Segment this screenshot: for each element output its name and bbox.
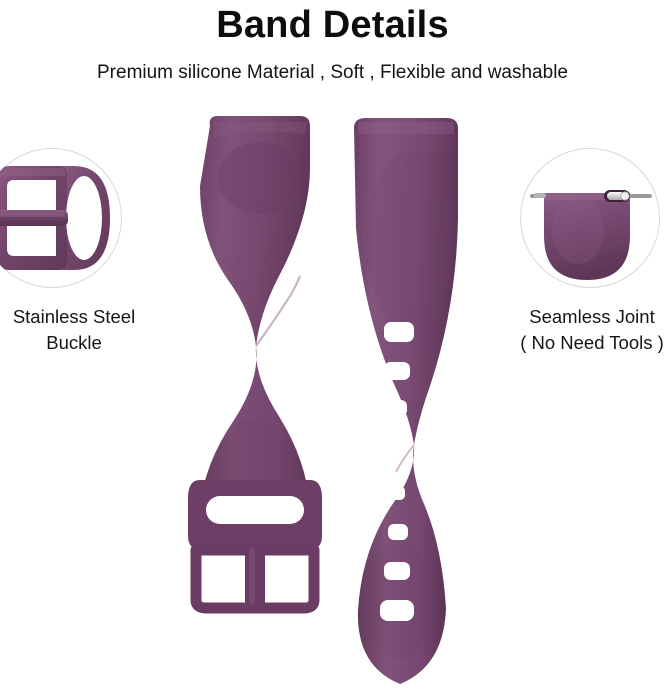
adjustment-hole xyxy=(384,322,414,342)
lug-graphic xyxy=(530,190,652,280)
lug-closeup-icon xyxy=(512,148,665,296)
adjustment-hole xyxy=(384,562,410,580)
adjustment-hole xyxy=(392,486,405,500)
quick-release-knob xyxy=(621,192,629,200)
callout-caption-right-line2: ( No Need Tools ) xyxy=(492,330,665,356)
callout-caption-left: Stainless Steel Buckle xyxy=(0,304,174,356)
strap-holes-half xyxy=(318,100,508,700)
strap-r-upper-shadow xyxy=(366,150,454,330)
buckle-graphic xyxy=(0,166,110,270)
callout-caption-right: Seamless Joint ( No Need Tools ) xyxy=(492,304,665,356)
adjustment-hole xyxy=(388,524,408,540)
strap-r-top-highlight xyxy=(358,122,454,134)
buckle-lobe-slot xyxy=(66,176,102,260)
strap-upper-shadow xyxy=(218,142,302,214)
strap-holes-graphic xyxy=(318,100,508,700)
product-detail-canvas: Band Details Premium silicone Material ,… xyxy=(0,0,665,695)
callout-seamless-joint: Seamless Joint ( No Need Tools ) xyxy=(492,148,665,356)
buckle-crossbar xyxy=(0,210,68,226)
page-subtitle: Premium silicone Material , Soft , Flexi… xyxy=(0,60,665,86)
callout-stainless-steel-buckle: Stainless Steel Buckle xyxy=(0,148,174,356)
buckle-closeup-icon xyxy=(0,148,134,296)
adjustment-hole xyxy=(380,600,414,621)
callout-caption-left-line2: Buckle xyxy=(0,330,174,356)
adjustment-hole xyxy=(390,436,404,449)
adjustment-hole xyxy=(386,400,407,416)
buckle-prong-highlight xyxy=(249,548,255,604)
buckle-closeup-figure xyxy=(0,148,134,296)
keeper-slot xyxy=(206,496,304,524)
adjustment-hole xyxy=(384,362,410,380)
callout-caption-right-line1: Seamless Joint xyxy=(492,304,665,330)
callout-caption-left-line1: Stainless Steel xyxy=(0,304,174,330)
pin-nub-left xyxy=(534,193,546,198)
strap-r-twist-edge xyxy=(396,445,414,472)
band-end-highlight xyxy=(552,196,604,264)
buckle-crossbar-highlight xyxy=(0,213,64,217)
lug-closeup-figure xyxy=(512,148,665,296)
page-title: Band Details xyxy=(0,0,665,50)
